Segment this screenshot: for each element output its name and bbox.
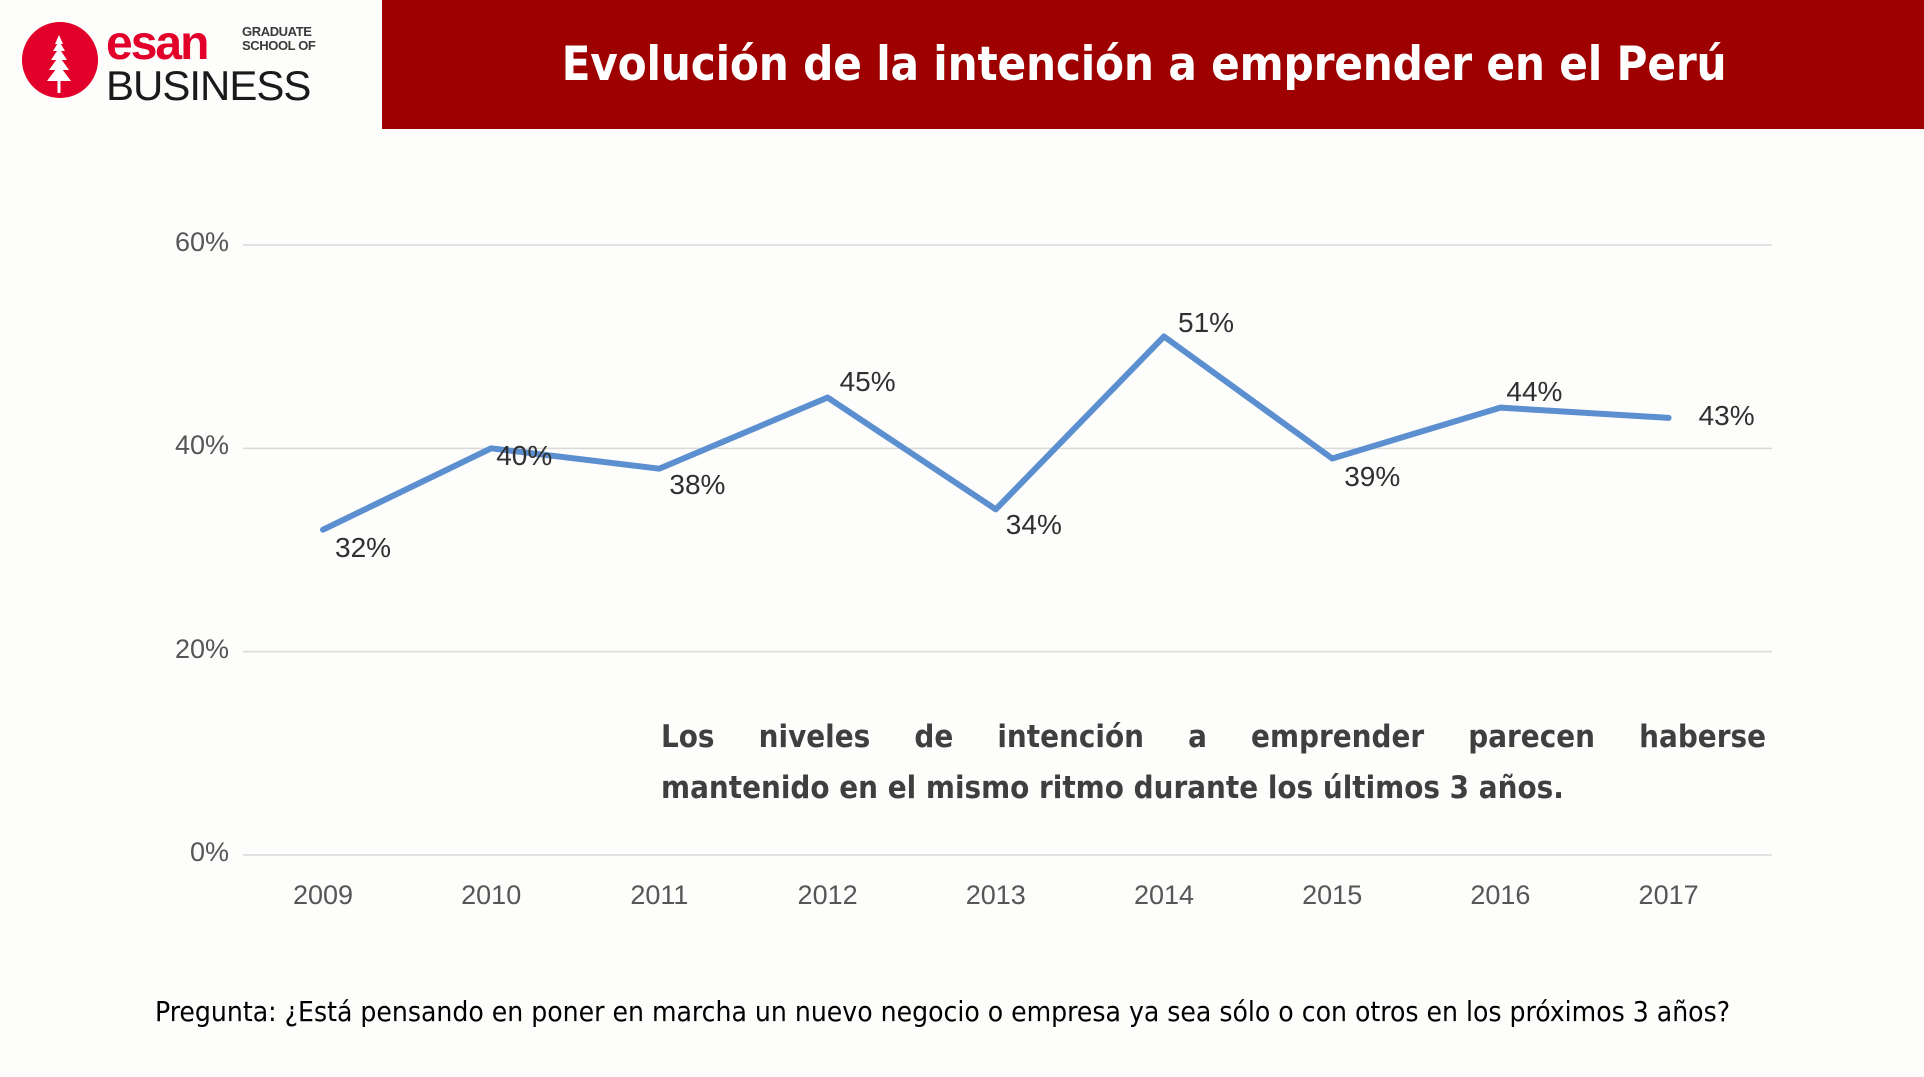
logo-business-text: BUSINESS	[106, 65, 310, 107]
data-point-label: 39%	[1344, 461, 1400, 493]
data-point-label: 44%	[1506, 376, 1562, 408]
x-axis-tick-label: 2012	[758, 880, 898, 911]
y-axis-tick-label: 0%	[139, 837, 229, 868]
x-axis-tick-label: 2009	[253, 880, 393, 911]
data-point-label: 45%	[840, 366, 896, 398]
data-point-label: 40%	[496, 440, 552, 472]
data-point-label: 32%	[335, 532, 391, 564]
x-axis-tick-label: 2010	[421, 880, 561, 911]
y-axis-tick-label: 60%	[139, 227, 229, 258]
x-axis-tick-label: 2017	[1599, 880, 1739, 911]
logo-esan-text: esan	[106, 20, 207, 68]
data-point-label: 38%	[669, 469, 725, 501]
esan-logo: esan GRADUATE SCHOOL OF BUSINESS	[22, 18, 342, 106]
data-point-label: 34%	[1006, 509, 1062, 541]
callout-line-2: mantenido en el mismo ritmo durante los …	[661, 763, 1766, 814]
logo-school-of-text: SCHOOL OF	[242, 39, 315, 53]
data-point-label: 43%	[1699, 400, 1755, 432]
x-axis-tick-label: 2014	[1094, 880, 1234, 911]
logo-graduate-text: GRADUATE	[242, 25, 315, 39]
y-axis-tick-label: 40%	[139, 430, 229, 461]
x-axis-tick-label: 2011	[589, 880, 729, 911]
question-note: Pregunta: ¿Está pensando en poner en mar…	[155, 995, 1855, 1028]
page-title: Evolución de la intención a emprender en…	[382, 0, 1906, 129]
callout-line-1: Los niveles de intención a emprender par…	[661, 712, 1766, 763]
x-axis-tick-label: 2013	[926, 880, 1066, 911]
logo-graduate-block: GRADUATE SCHOOL OF	[242, 25, 315, 53]
y-axis-tick-label: 20%	[139, 634, 229, 665]
x-axis-tick-label: 2015	[1262, 880, 1402, 911]
tree-icon	[44, 35, 76, 93]
series-line-intencion	[323, 337, 1669, 530]
logo-roundel-icon	[22, 22, 98, 98]
logo-wordmark: esan GRADUATE SCHOOL OF BUSINESS	[106, 20, 346, 106]
data-point-label: 51%	[1178, 307, 1234, 339]
callout-text: Los niveles de intención a emprender par…	[661, 712, 1766, 814]
x-axis-tick-label: 2016	[1430, 880, 1570, 911]
